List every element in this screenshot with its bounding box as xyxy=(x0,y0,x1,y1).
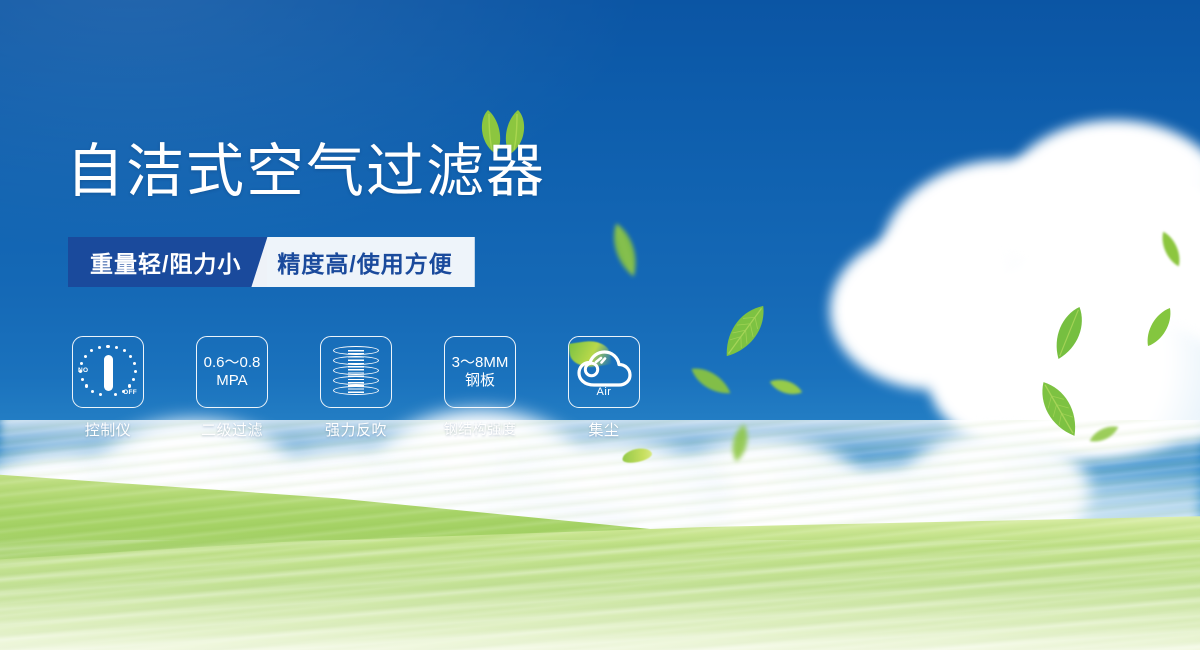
cumulus-cloud-right xyxy=(820,120,1200,450)
feature-item-dust[interactable]: Air 集尘 xyxy=(568,336,640,440)
feature-icon-box: 0.6～0.8 MPA xyxy=(196,336,268,408)
gauge-dial-icon: NO OFF xyxy=(79,343,137,401)
gauge-off-label: OFF xyxy=(123,389,137,396)
gauge-no-label: NO xyxy=(78,367,88,374)
feature-icon-box: 3～8MM 钢板 xyxy=(444,336,516,408)
feature-item-steel[interactable]: 3～8MM 钢板 钢结构强度 xyxy=(444,336,516,440)
feature-list: NO OFF 控制仪 0.6～0.8 MPA 二级过滤 xyxy=(72,336,640,440)
feature-icon-box: NO OFF xyxy=(72,336,144,408)
feature-icon-box xyxy=(320,336,392,408)
feature-label: 强力反吹 xyxy=(325,419,387,440)
feature-label: 二级过滤 xyxy=(201,419,263,440)
filter-cartridge-icon xyxy=(333,346,379,398)
cloud-air-icon: Air xyxy=(574,347,634,397)
feature-label: 集尘 xyxy=(588,419,619,440)
feature-label: 控制仪 xyxy=(85,419,132,440)
grass-field xyxy=(0,420,1200,650)
feature-icon-box: Air xyxy=(568,336,640,408)
feature-label: 钢结构强度 xyxy=(444,419,517,439)
product-banner: 自洁式空气过滤器 重量轻/阻力小 精度高/使用方便 xyxy=(0,0,1200,650)
subtitle-bar: 重量轻/阻力小 精度高/使用方便 xyxy=(68,237,475,287)
air-label: Air xyxy=(574,386,634,398)
subtitle-right: 精度高/使用方便 xyxy=(251,237,474,287)
feature-item-pressure[interactable]: 0.6～0.8 MPA 二级过滤 xyxy=(196,336,268,440)
feature-item-blowback[interactable]: 强力反吹 xyxy=(320,336,392,440)
feature-item-controller[interactable]: NO OFF 控制仪 xyxy=(72,336,144,440)
page-title: 自洁式空气过滤器 xyxy=(66,143,546,201)
pressure-text-icon: 0.6～0.8 MPA xyxy=(204,354,261,389)
steel-plate-text-icon: 3～8MM 钢板 xyxy=(452,354,509,389)
subtitle-left: 重量轻/阻力小 xyxy=(68,237,267,287)
